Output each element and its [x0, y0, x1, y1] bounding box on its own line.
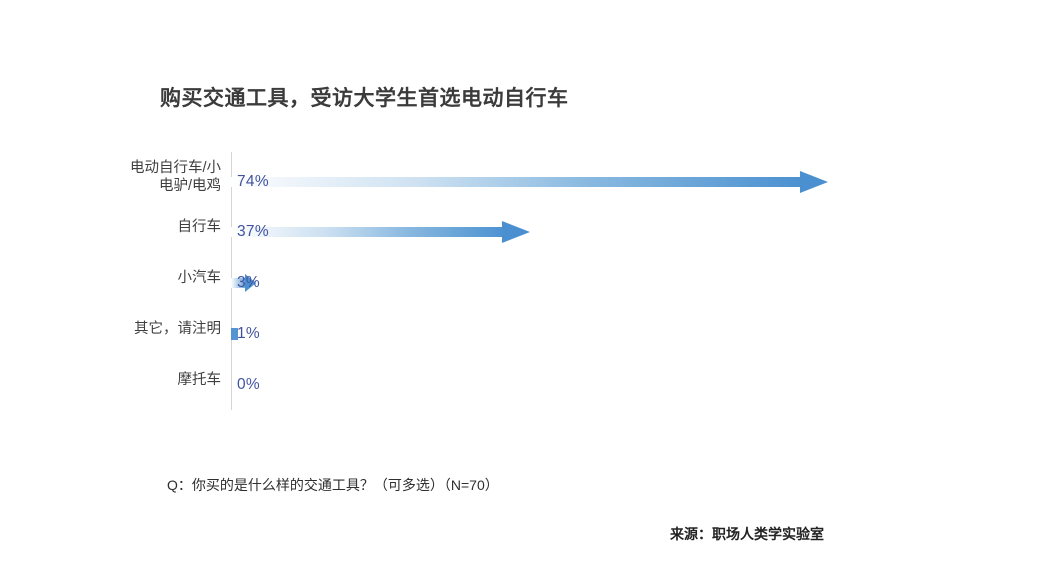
- category-label: 其它，请注明: [21, 320, 221, 338]
- value-label: 1%: [237, 325, 260, 343]
- table-row: 其它，请注明 1%: [0, 309, 1064, 359]
- value-label: 74%: [237, 173, 269, 191]
- bar-arrow-icon: [231, 169, 831, 195]
- table-row: 电动自行车/小 电驴/电鸡 74%: [0, 157, 1064, 207]
- source-annotation: 来源：职场人类学实验室: [670, 524, 824, 544]
- bar-74: [231, 169, 831, 195]
- category-label: 摩托车: [21, 371, 221, 389]
- value-label: 0%: [237, 376, 260, 394]
- table-row: 摩托车 0%: [0, 360, 1064, 410]
- table-row: 自行车 37%: [0, 207, 1064, 257]
- bar-arrow-icon: [231, 219, 533, 245]
- category-label: 小汽车: [21, 269, 221, 287]
- category-label: 电动自行车/小 电驴/电鸡: [21, 159, 221, 195]
- value-label: 3%: [237, 274, 260, 292]
- value-label: 37%: [237, 223, 269, 241]
- slide-canvas: 购买交通工具，受访大学生首选电动自行车 电动自行车/小 电驴/电鸡: [0, 0, 1064, 576]
- table-row: 小汽车 3%: [0, 258, 1064, 308]
- bar-37: [231, 219, 533, 245]
- question-annotation: Q：你买的是什么样的交通工具？（可多选）（N=70）: [167, 475, 499, 495]
- chart-plot-area: 电动自行车/小 电驴/电鸡 74%: [0, 0, 1064, 576]
- category-label: 自行车: [21, 218, 221, 236]
